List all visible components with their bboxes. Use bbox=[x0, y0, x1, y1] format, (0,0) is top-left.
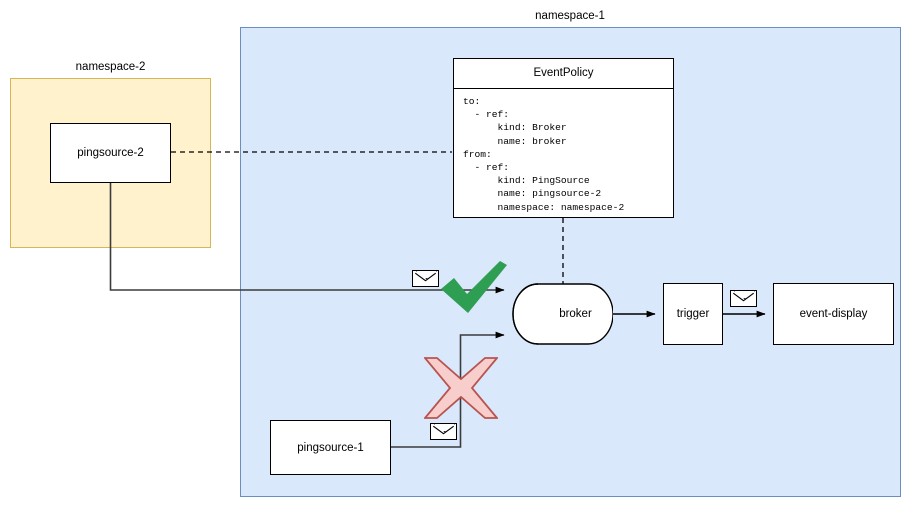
check-mark-icon bbox=[437, 261, 509, 322]
broker-node[interactable] bbox=[512, 283, 613, 345]
eventpolicy-card[interactable]: EventPolicy to: - ref: kind: Broker name… bbox=[453, 58, 674, 218]
envelope-icon bbox=[412, 270, 439, 287]
pingsource-1-label: pingsource-1 bbox=[297, 442, 363, 454]
diagram-canvas: namespace-1 namespace-2 broker p bbox=[0, 0, 911, 508]
trigger-label: trigger bbox=[677, 308, 710, 320]
pingsource-2-label: pingsource-2 bbox=[77, 147, 143, 159]
envelope-icon bbox=[730, 290, 757, 307]
trigger-node[interactable]: trigger bbox=[663, 283, 723, 345]
x-mark-icon bbox=[424, 357, 498, 424]
eventpolicy-title: EventPolicy bbox=[454, 59, 673, 89]
eventpolicy-spec: to: - ref: kind: Broker name: broker fro… bbox=[454, 89, 673, 214]
pingsource-2-node[interactable]: pingsource-2 bbox=[50, 123, 171, 183]
pingsource-1-node[interactable]: pingsource-1 bbox=[270, 420, 391, 475]
event-display-node[interactable]: event-display bbox=[773, 283, 894, 345]
event-display-label: event-display bbox=[800, 308, 868, 320]
envelope-icon bbox=[430, 423, 457, 440]
